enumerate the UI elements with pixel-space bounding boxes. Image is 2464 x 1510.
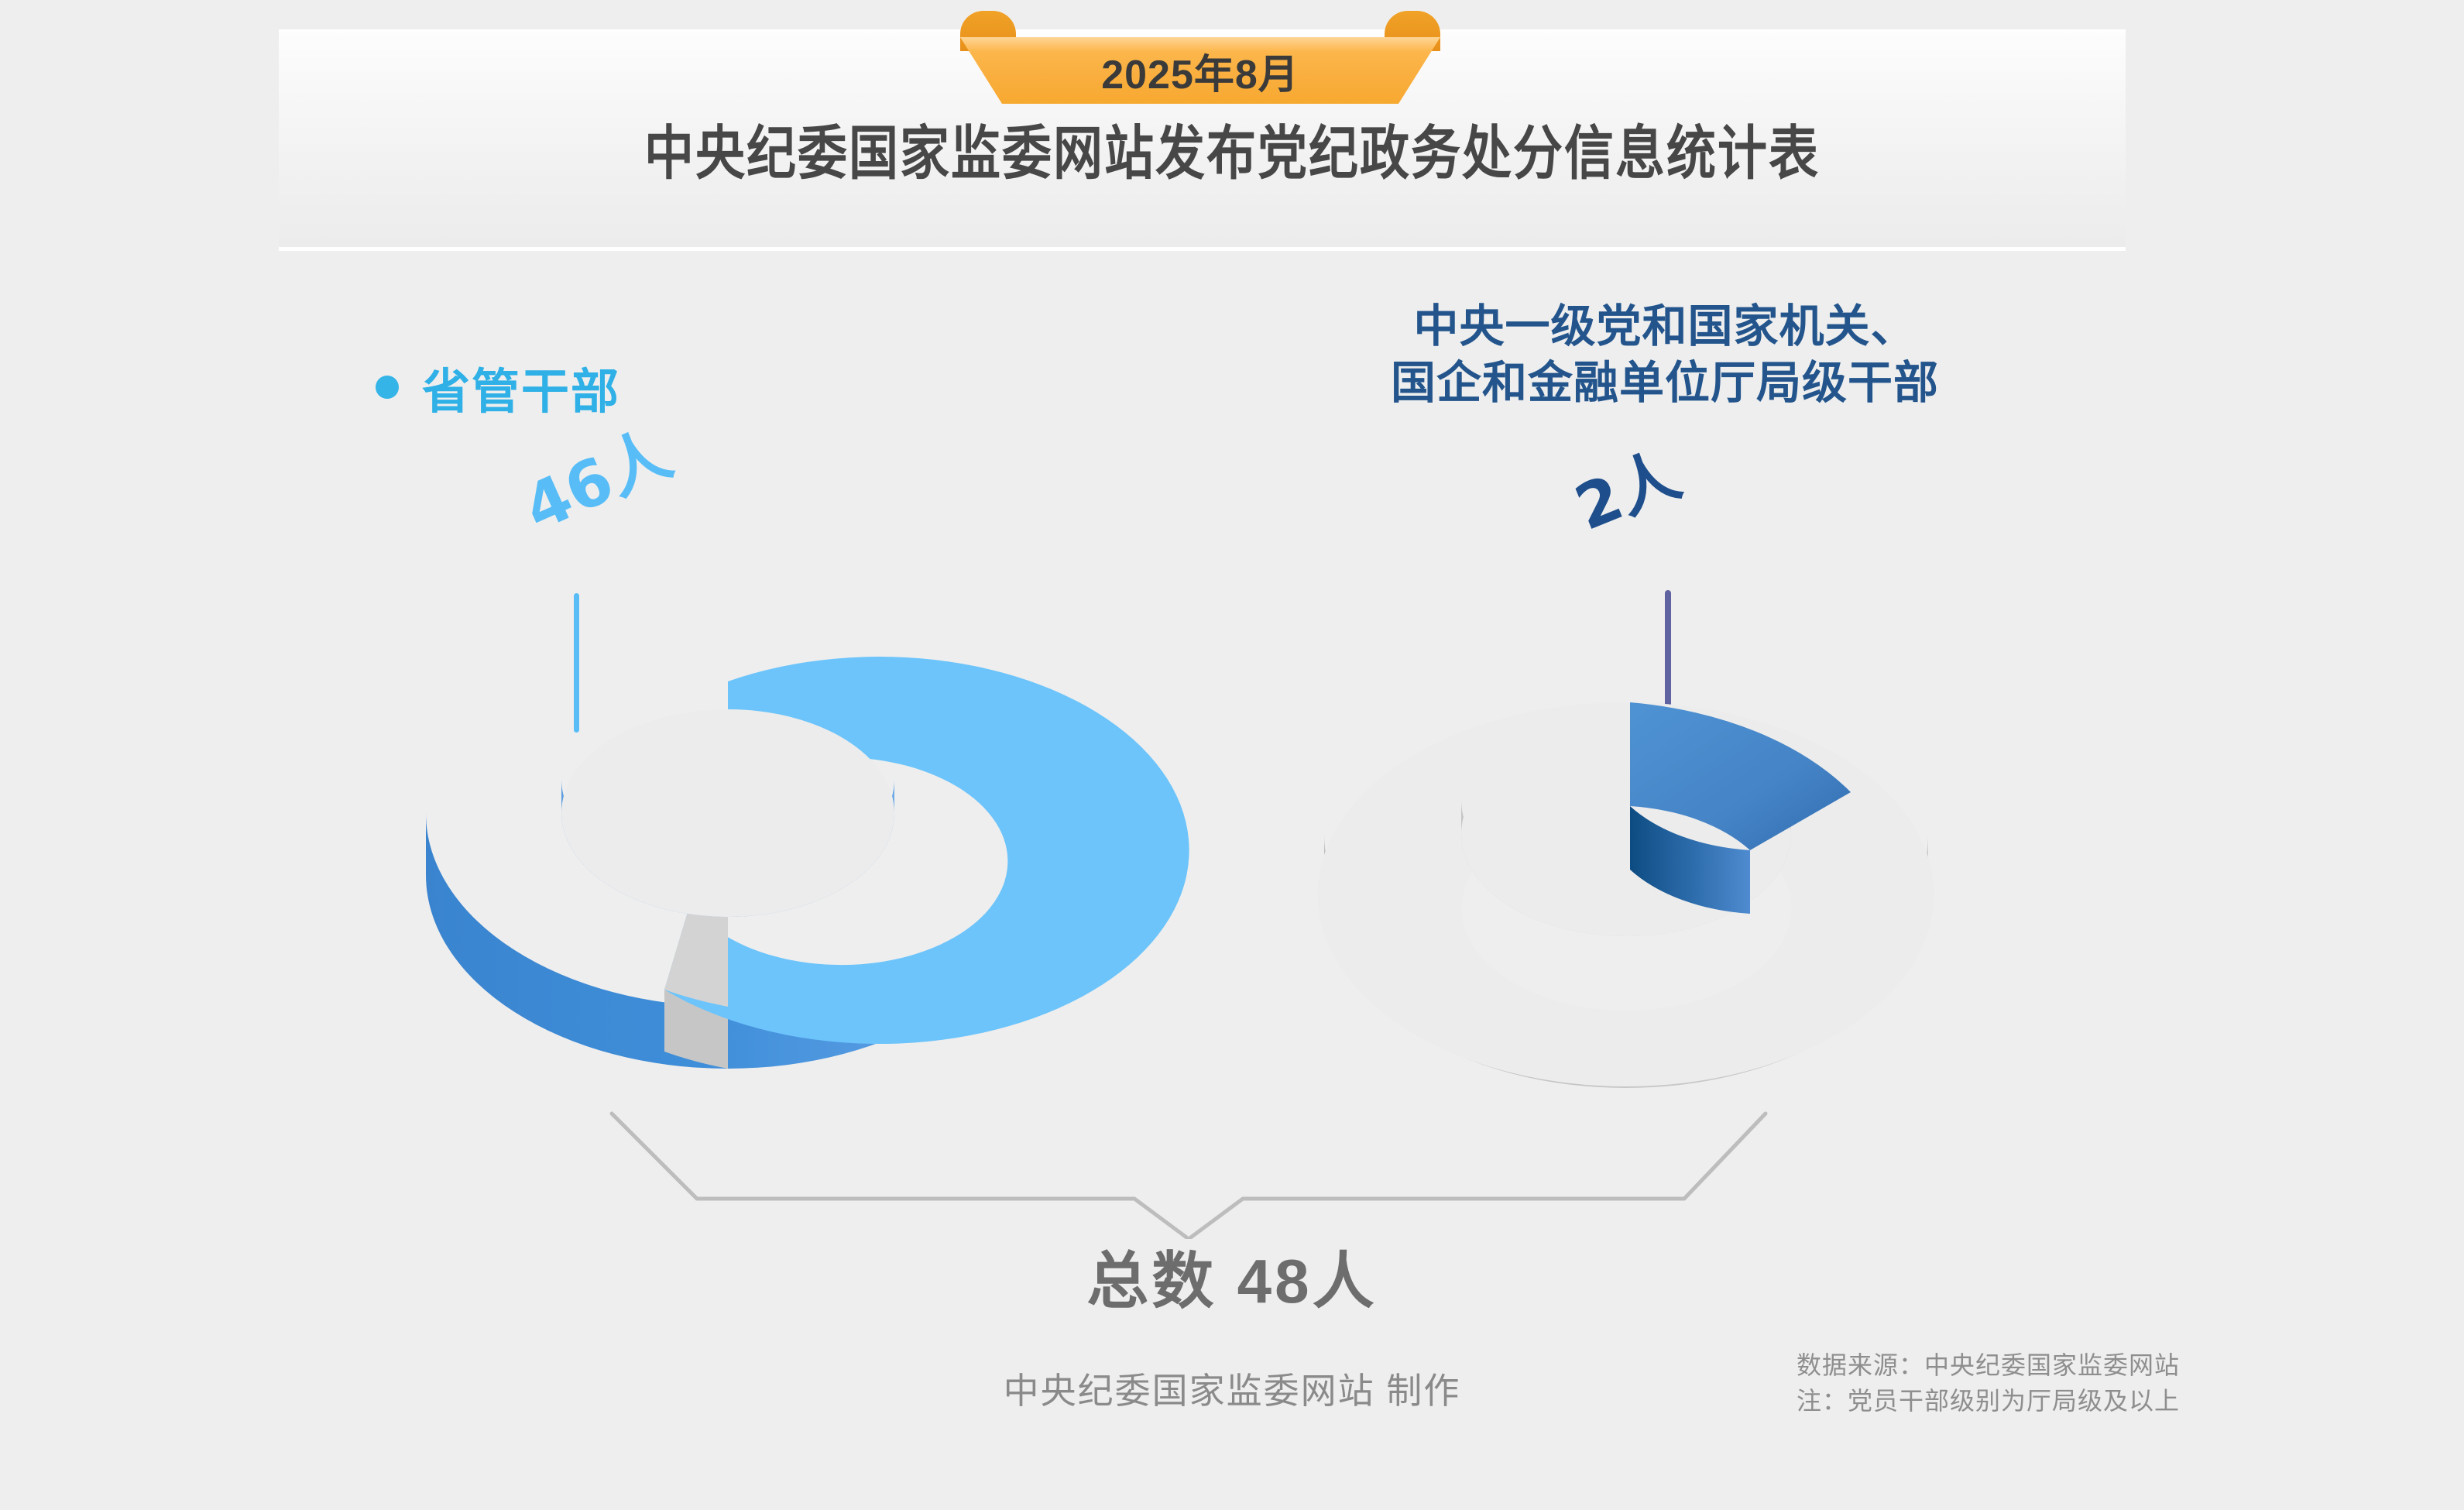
donut-left-svg [418,681,1038,1100]
legend-provincial-cadres: 省管干部 [376,352,620,422]
bracket-path [612,1114,1766,1239]
total-bracket-svg [589,1100,1797,1239]
callout-value-right: 2人 [1560,425,1691,547]
ribbon-date-label: 2025年8月 [960,37,1440,104]
page-title: 中央纪委国家监委网站发布党纪政务处分信息统计表 [0,107,2464,191]
date-ribbon: 2025年8月 [960,11,1440,104]
callout-value-left: 46人 [507,403,684,548]
footer-source: 数据来源：中央纪委国家监委网站 [1797,1347,2339,1383]
total-bracket [589,1100,1797,1239]
donut-right-svg [1316,701,1936,1119]
donut-left-slice-gray-top [664,904,728,1007]
total-count-label: 总数 48人 [0,1231,2464,1321]
donut-left-hole [561,709,894,917]
donut-chart-provincial [418,681,1038,1100]
footer-notes: 数据来源：中央纪委国家监委网站 注：党员干部级别为厅局级及以上 [1797,1347,2339,1419]
legend-right-line1: 中央一级党和国家机关、 [1239,298,2091,355]
legend-left-label: 省管干部 [422,352,620,422]
donut-chart-central [1316,701,1936,1119]
legend-central-cadres: 中央一级党和国家机关、 国企和金融单位厅局级干部 [1239,298,2091,411]
legend-right-line2: 国企和金融单位厅局级干部 [1239,355,2091,411]
legend-dot-icon [376,376,399,399]
footer-note: 注：党员干部级别为厅局级及以上 [1797,1383,2339,1419]
